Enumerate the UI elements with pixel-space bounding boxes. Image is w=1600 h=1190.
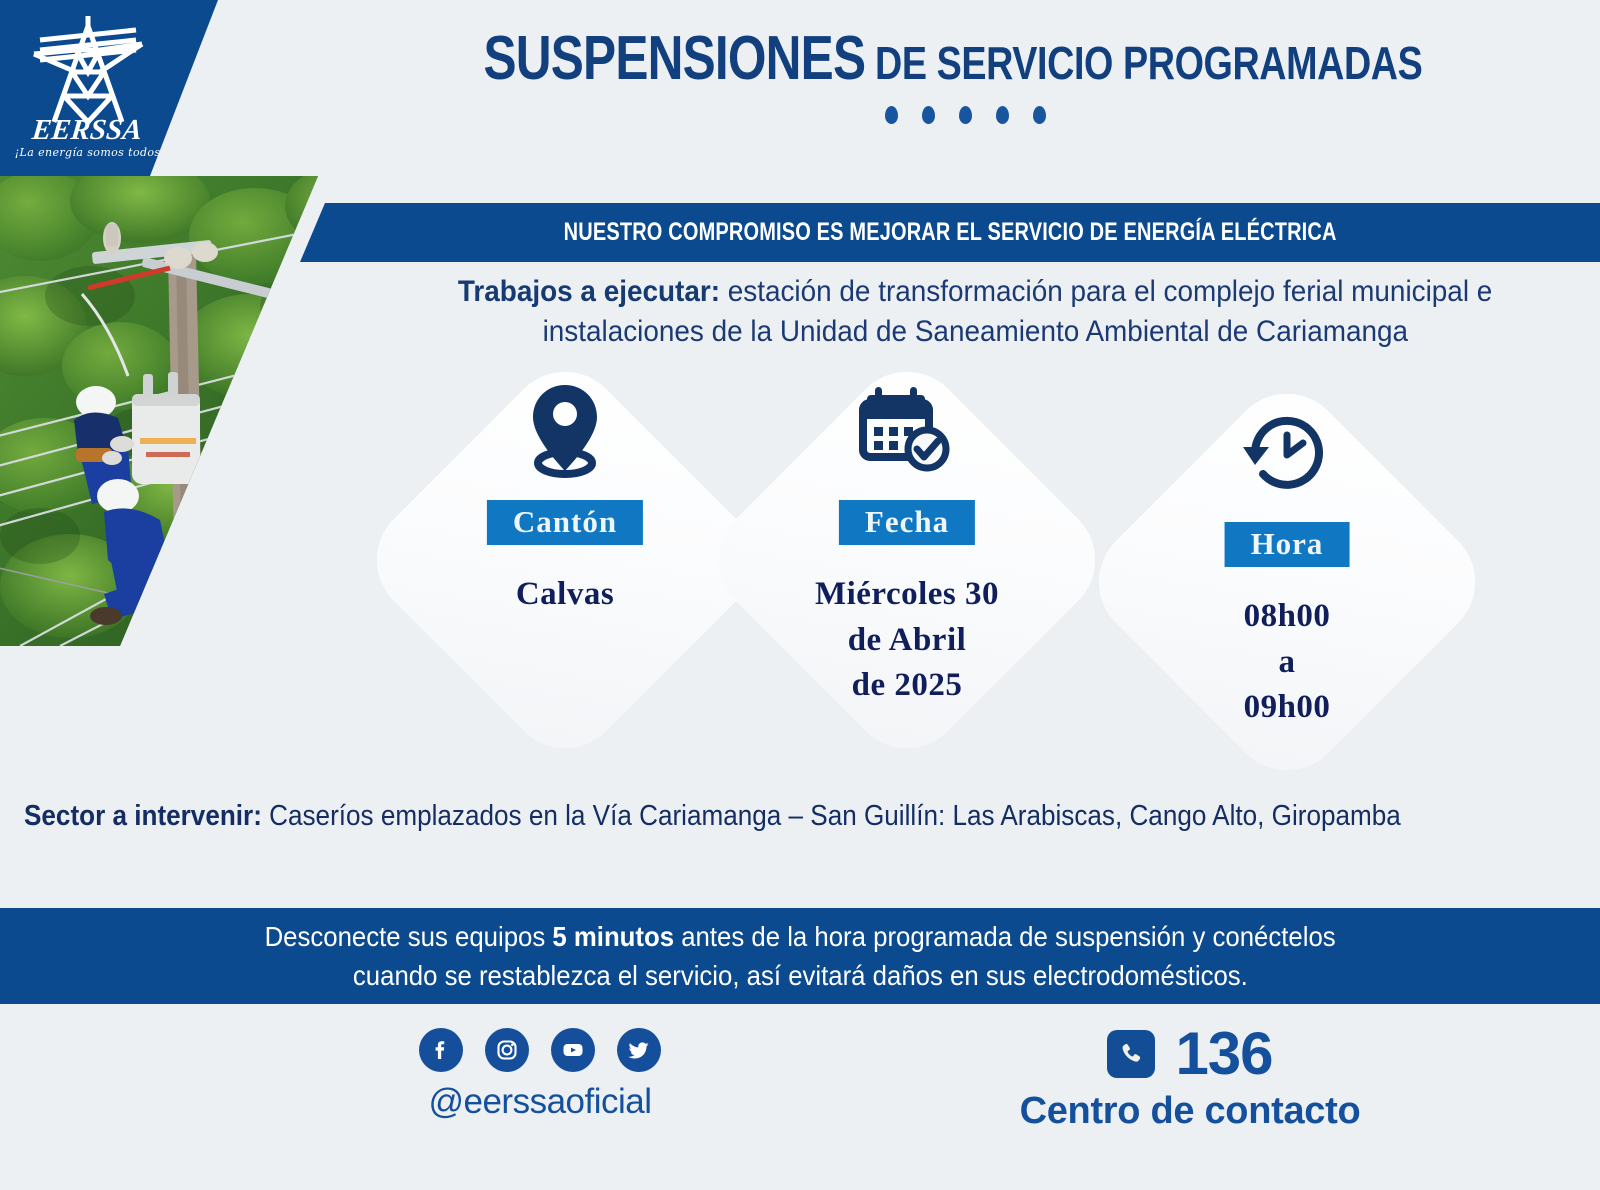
logo-slogan: ¡La energía somos todos! <box>10 146 170 159</box>
dot-3 <box>959 106 972 124</box>
warning-line-1: Desconecte sus equipos 5 minutos antes d… <box>218 917 1382 956</box>
twitter-icon[interactable] <box>617 1028 661 1072</box>
warning-highlight: 5 minutos <box>552 921 674 952</box>
card-value-hora: 08h00 a 09h00 <box>1122 594 1452 731</box>
location-pin-icon <box>522 381 608 481</box>
brand-logo-inner: EERSSA ¡La energía somos todos! <box>10 6 170 172</box>
dot-4 <box>996 106 1009 124</box>
fecha-line-3: de 2025 <box>742 663 1072 709</box>
works-label: Trabajos a ejecutar: <box>458 275 720 308</box>
warning-text-c: antes de la hora programada de suspensió… <box>674 921 1336 952</box>
card-fecha: Fecha Miércoles 30 de Abril de 2025 <box>742 360 1072 760</box>
commitment-text: NUESTRO COMPROMISO ES MEJORAR EL SERVICI… <box>563 218 1336 247</box>
warning-line-2: cuando se restablezca el servicio, así e… <box>314 956 1287 995</box>
fecha-line-2: de Abril <box>742 618 1072 664</box>
sector-label: Sector a intervenir: <box>24 800 262 832</box>
dot-2 <box>922 106 935 124</box>
hora-line-2: a <box>1122 640 1452 686</box>
logo-wordmark: EERSSA <box>10 114 163 147</box>
transmission-tower-icon <box>18 10 158 128</box>
works-text-1: estación de transformación para el compl… <box>720 275 1492 308</box>
card-badge-fecha: Fecha <box>839 500 975 545</box>
fecha-line-1: Miércoles 30 <box>742 572 1072 618</box>
title-main: SUSPENSIONES <box>483 28 865 90</box>
calendar-check-icon <box>859 385 955 477</box>
contact-row: 136 <box>930 1024 1450 1084</box>
social-handle[interactable]: @eerssaoficial <box>330 1082 750 1122</box>
dot-1 <box>885 106 898 124</box>
card-icon-slot <box>742 376 1072 486</box>
sector-line: Sector a intervenir: Caseríos emplazados… <box>24 800 1580 833</box>
contact-number: 136 <box>1175 1024 1272 1084</box>
warning-line-1-inner: Desconecte sus equipos 5 minutos antes d… <box>264 917 1335 956</box>
phone-icon[interactable] <box>1107 1030 1155 1078</box>
card-value-canton: Calvas <box>400 572 730 618</box>
card-badge-canton: Cantón <box>487 500 643 545</box>
works-line-1: Trabajos a ejecutar: estación de transfo… <box>458 272 1492 312</box>
hora-line-3: 09h00 <box>1122 685 1452 731</box>
card-content: Cantón Calvas <box>400 360 730 760</box>
sector-text: Caseríos emplazados en la Vía Cariamanga… <box>262 800 1401 832</box>
card-hora: Hora 08h00 a 09h00 <box>1122 382 1452 782</box>
dot-5 <box>1033 106 1046 124</box>
hora-line-1: 08h00 <box>1122 594 1452 640</box>
brand-logo-badge: EERSSA ¡La energía somos todos! <box>0 0 218 176</box>
works-description: Trabajos a ejecutar: estación de transfo… <box>360 272 1590 352</box>
works-line-2: instalaciones de la Unidad de Saneamient… <box>542 312 1407 352</box>
instagram-icon[interactable] <box>485 1028 529 1072</box>
card-canton: Cantón Calvas <box>400 360 730 760</box>
card-content: Fecha Miércoles 30 de Abril de 2025 <box>742 360 1072 760</box>
warning-line-2-inner: cuando se restablezca el servicio, así e… <box>353 956 1248 995</box>
warning-text-a: Desconecte sus equipos <box>264 921 552 952</box>
youtube-icon[interactable] <box>551 1028 595 1072</box>
facebook-icon[interactable] <box>419 1028 463 1072</box>
card-badge-hora: Hora <box>1225 522 1350 567</box>
card-value-fecha: Miércoles 30 de Abril de 2025 <box>742 572 1072 709</box>
page-header: SUSPENSIONESDE SERVICIO PROGRAMADAS <box>330 28 1600 124</box>
page-title: SUSPENSIONESDE SERVICIO PROGRAMADAS <box>330 28 1600 90</box>
warning-banner: Desconecte sus equipos 5 minutos antes d… <box>0 908 1600 1004</box>
page-footer: @eerssaoficial 136 Centro de contacto <box>0 1010 1600 1190</box>
card-icon-slot <box>1122 398 1452 508</box>
social-icon-row <box>330 1028 750 1072</box>
card-content: Hora 08h00 a 09h00 <box>1122 382 1452 782</box>
clock-restore-icon <box>1241 407 1333 499</box>
commitment-banner: NUESTRO COMPROMISO ES MEJORAR EL SERVICI… <box>300 203 1600 262</box>
contact-block: 136 Centro de contacto <box>930 1024 1450 1133</box>
title-dot-separator <box>330 106 1600 124</box>
title-sub: DE SERVICIO PROGRAMADAS <box>875 40 1422 86</box>
contact-label: Centro de contacto <box>930 1090 1450 1133</box>
info-cards: Cantón Calvas <box>370 360 1550 760</box>
card-icon-slot <box>400 376 730 486</box>
social-block: @eerssaoficial <box>330 1028 750 1122</box>
sector-inner: Sector a intervenir: Caseríos emplazados… <box>24 800 1401 833</box>
